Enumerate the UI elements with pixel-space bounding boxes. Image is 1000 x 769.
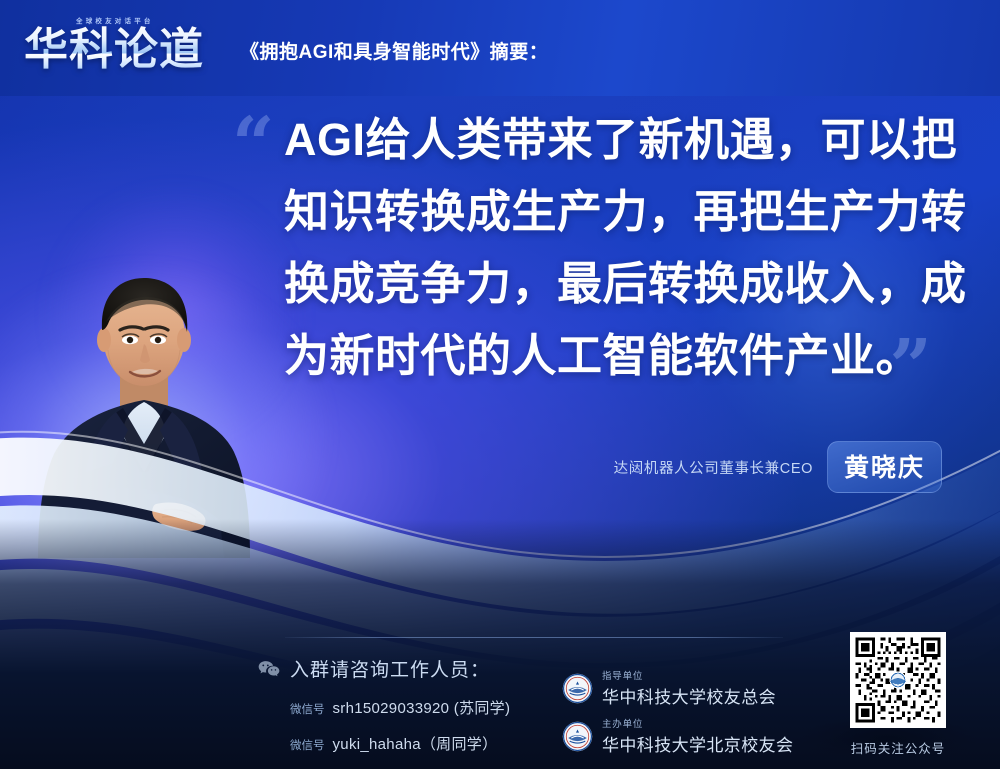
quote-line: 知识转换成生产力，再把生产力转	[284, 176, 940, 248]
poster-header: 全球校友对话平台 华科论道 《拥抱AGI和具身智能时代》摘要：	[0, 0, 1000, 92]
contact-title: 入群请咨询工作人员：	[290, 655, 490, 682]
qr-caption: 扫码关注公众号	[843, 738, 953, 757]
organizations-section: 指导单位 华中科技大学校友总会 主办单位 华中科技大学北京校友会	[562, 668, 793, 764]
contact-heading: 入群请咨询工作人员：	[258, 655, 588, 682]
contact-section: 入群请咨询工作人员： 微信号 srh15029033920 (苏同学) 微信号 …	[258, 655, 588, 754]
attribution-name-badge: 黄晓庆	[827, 441, 942, 493]
quote-block: “ AGI给人类带来了新机遇，可以把 知识转换成生产力，再把生产力转 换成竞争力…	[228, 104, 940, 392]
organization-name: 华中科技大学北京校友会	[602, 731, 793, 756]
contact-label: 微信号	[290, 737, 325, 753]
brand-logo[interactable]: 全球校友对话平台 华科论道	[24, 15, 224, 77]
organization-kind: 指导单位	[602, 668, 776, 682]
quote-text: AGI给人类带来了新机遇，可以把 知识转换成生产力，再把生产力转 换成竞争力，最…	[228, 104, 940, 392]
contact-label: 微信号	[290, 701, 325, 717]
attribution-role: 达闼机器人公司董事长兼CEO	[614, 457, 813, 478]
quote-line: 为新时代的人工智能软件产业。	[284, 320, 940, 392]
attribution: 达闼机器人公司董事长兼CEO 黄晓庆	[614, 441, 942, 493]
contact-row[interactable]: 微信号 yuki_hahaha（周同学）	[258, 733, 588, 754]
qr-code-icon[interactable]	[850, 632, 946, 728]
wechat-icon	[258, 660, 280, 678]
brand-logo-text: 华科论道	[24, 23, 204, 77]
contact-value: srh15029033920 (苏同学)	[333, 697, 511, 718]
quote-line: 换成竞争力，最后转换成收入，成	[284, 248, 940, 320]
contact-value: yuki_hahaha（周同学）	[333, 733, 498, 754]
header-subtitle: 《拥抱AGI和具身智能时代》摘要：	[240, 37, 548, 64]
organization-item: 主办单位 华中科技大学北京校友会	[562, 716, 793, 756]
poster-canvas: 全球校友对话平台 华科论道 《拥抱AGI和具身智能时代》摘要： “ AGI给人类…	[0, 0, 1000, 769]
organization-item: 指导单位 华中科技大学校友总会	[562, 668, 793, 708]
hust-emblem-icon	[562, 721, 593, 752]
footer-divider	[285, 637, 783, 638]
contact-row[interactable]: 微信号 srh15029033920 (苏同学)	[258, 697, 588, 718]
hust-emblem-icon	[562, 673, 593, 704]
organization-text: 主办单位 华中科技大学北京校友会	[602, 716, 793, 756]
organization-text: 指导单位 华中科技大学校友总会	[602, 668, 776, 708]
organization-name: 华中科技大学校友总会	[602, 683, 776, 708]
quote-line: AGI给人类带来了新机遇，可以把	[284, 104, 940, 176]
organization-kind: 主办单位	[602, 716, 793, 730]
qr-section: 扫码关注公众号	[843, 632, 953, 757]
